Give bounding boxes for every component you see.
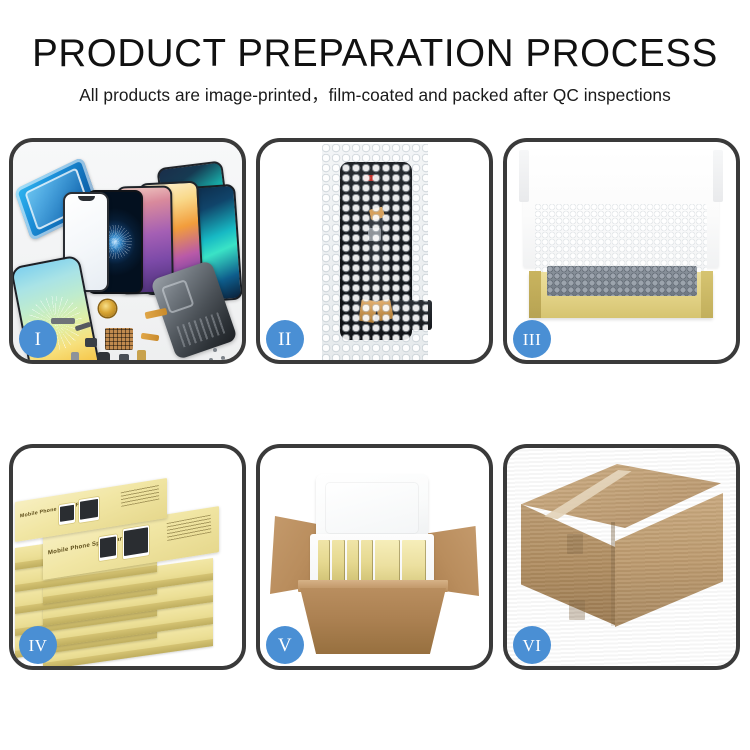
box-art-screen-c [59,503,75,526]
step-badge-3: III [513,320,551,358]
bubble-texture-overlay [322,144,428,360]
white-foam-sheet [535,204,707,274]
process-step-panel-1[interactable]: I [9,138,246,364]
process-step-panel-2[interactable]: II [256,138,493,364]
step-badge-4: IV [19,626,57,664]
carton-tab-upper [567,534,583,554]
carton-tab-lower [569,600,585,620]
packed-box-2 [332,540,344,582]
bubble-wrap-bag [322,144,428,360]
small-part-c [97,352,110,360]
packed-box-1 [318,540,330,582]
box-art-screen-b [123,525,149,559]
step-badge-1: I [19,320,57,358]
small-part-f [71,352,79,360]
process-step-panel-5[interactable]: V [256,444,493,670]
process-step-panel-3[interactable]: III [503,138,740,364]
box-spec-text-back [121,485,160,507]
chip-grid-part [105,328,133,350]
box-spec-text [167,515,212,541]
page-subtitle: All products are image-printed，film-coat… [0,75,750,106]
process-steps-grid: I II [9,138,741,680]
packed-box-4 [361,540,373,582]
carton-corner-seam [611,522,615,626]
small-part-a [85,338,97,347]
process-step-panel-6[interactable]: VI [503,444,740,670]
small-part-e [137,350,146,360]
box-art-screen-d [79,497,99,523]
step-badge-5: V [266,626,304,664]
screw-a [213,348,217,352]
small-part-strip [51,318,75,324]
screw-c [209,358,213,360]
page-header: PRODUCT PREPARATION PROCESS All products… [0,0,750,106]
screw-b [221,356,225,360]
step-badge-6: VI [513,626,551,664]
carton-body [300,588,446,654]
product-preparation-process-page: PRODUCT PREPARATION PROCESS All products… [0,0,750,750]
grey-bubble-sheet [547,266,697,296]
process-step-panel-4[interactable]: Mobile Phone Spare Parts Mobile Phone Sp… [9,444,246,670]
packed-box-3 [347,540,359,582]
step-badge-2: II [266,320,304,358]
foam-lid-open [316,474,428,542]
page-title: PRODUCT PREPARATION PROCESS [0,0,750,75]
box-art-screen-a [99,534,117,561]
packed-box-5 [375,540,400,582]
copper-coil-part [99,300,116,317]
small-part-d [119,354,129,360]
packed-box-6 [402,540,427,582]
packed-yellow-boxes [318,540,426,582]
